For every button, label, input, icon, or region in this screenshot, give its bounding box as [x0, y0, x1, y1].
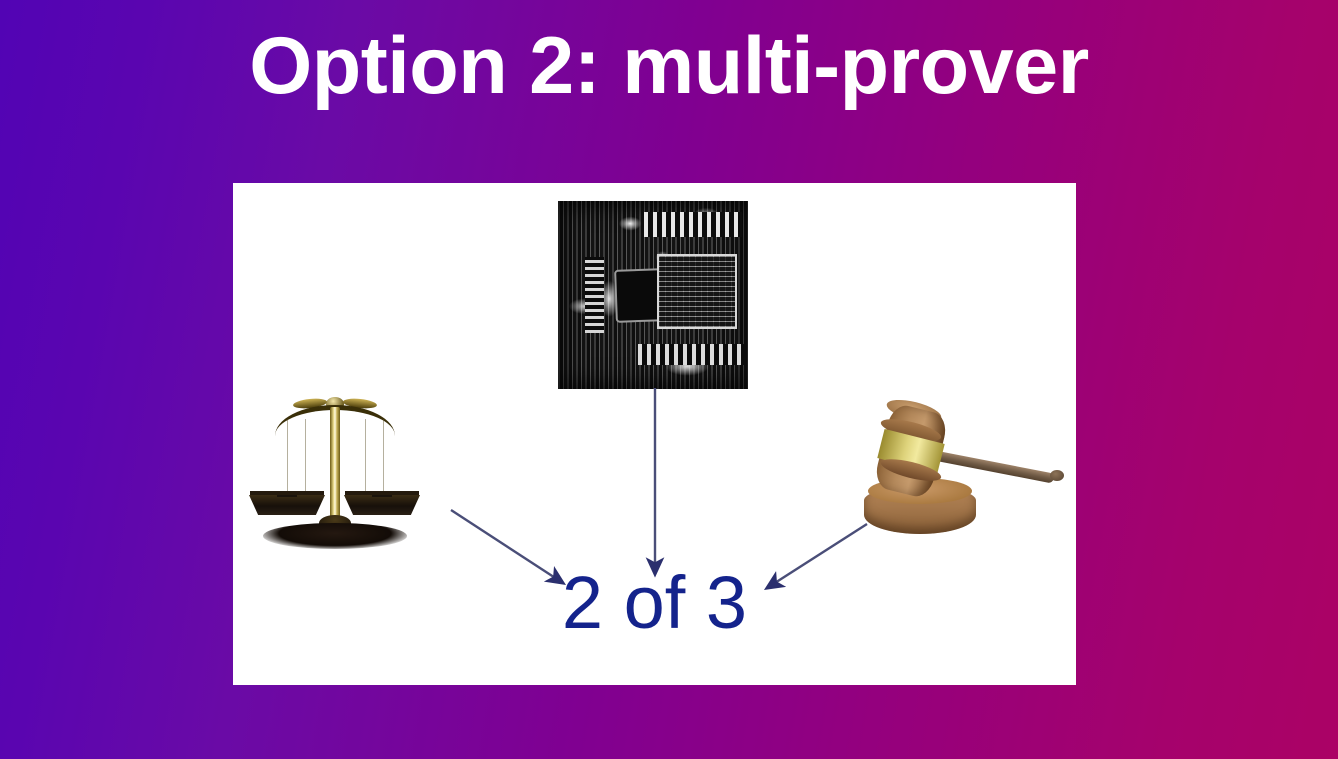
diagram-panel: 2 of 3 [233, 183, 1076, 685]
scales-string-left-a [287, 419, 288, 497]
chip-pin-row-bottom [638, 344, 744, 365]
gavel-icon [858, 398, 1073, 543]
gavel-handle [931, 450, 1055, 483]
scales-string-right-a [365, 419, 366, 497]
result-label: 2 of 3 [233, 566, 1076, 640]
scales-string-right-b [383, 419, 384, 497]
microchip-icon [558, 201, 748, 389]
scales-string-left-b [305, 419, 306, 497]
chip-die [657, 254, 737, 329]
chip-pin-row-top [644, 212, 743, 236]
scales-pan-left [249, 495, 325, 515]
scales-of-justice-icon [247, 391, 422, 551]
scales-base [263, 523, 407, 549]
scales-pan-right [344, 495, 420, 515]
scales-pan-rim-left [250, 491, 324, 495]
chip-pin-row-left [585, 257, 604, 332]
gavel-handle-knob [1050, 470, 1064, 481]
slide-canvas: Option 2: multi-prover [0, 0, 1338, 759]
scales-pan-rim-right [345, 491, 419, 495]
page-title: Option 2: multi-prover [0, 26, 1338, 107]
